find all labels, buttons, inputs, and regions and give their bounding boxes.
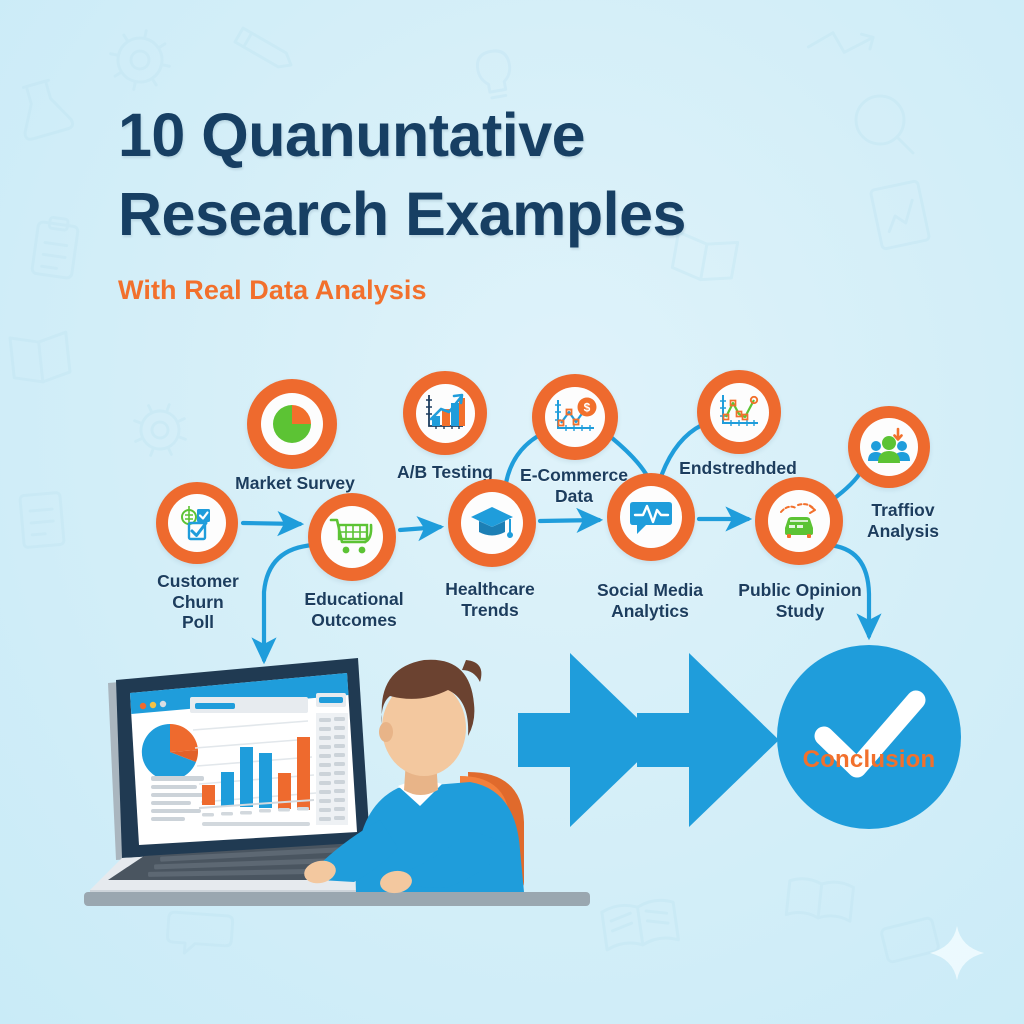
connector-education-to-healthcare [400, 527, 440, 530]
flow-node-market-survey[interactable] [247, 379, 337, 469]
illustration-scene [0, 600, 1024, 1024]
speech-pulse-icon [628, 496, 674, 538]
flow-node-endstredhded[interactable] [697, 370, 781, 454]
lightbulb-icon [475, 49, 515, 100]
page-title-line-1: 10 Quanuntative [118, 96, 878, 175]
flask-icon [12, 77, 73, 140]
flow-label-endstredhded: Endstredhded [679, 458, 797, 479]
flow-label-traffiov-analysis: Traffiov Analysis [843, 500, 964, 541]
pie-chart-icon [269, 401, 315, 447]
chart-paper-icon [870, 181, 929, 250]
svg-text:$: $ [584, 401, 591, 415]
connector-churn-to-education [243, 523, 300, 524]
flow-node-customer-churn-poll[interactable] [156, 482, 238, 564]
car-traffic-icon [776, 500, 822, 542]
arrow-decoration-icon [808, 22, 873, 63]
gear-icon [125, 395, 194, 464]
flow-node-ab-testing[interactable] [403, 371, 487, 455]
clipboard-icon [32, 216, 80, 279]
desk-surface [84, 892, 590, 906]
page-title-line-2: Research Examples [118, 175, 878, 254]
flow-label-market-survey: Market Survey [235, 473, 355, 494]
bar-chart-growth-icon [423, 392, 467, 434]
conclusion-badge[interactable] [777, 645, 961, 829]
dashboard-side-list [316, 713, 348, 825]
page-subtitle: With Real Data Analysis [118, 275, 878, 306]
shopping-cart-icon [329, 515, 375, 559]
flow-node-educational-outcomes[interactable] [308, 493, 396, 581]
line-chart-dollar-icon: $ [552, 396, 598, 438]
connector-healthcare-to-social [540, 520, 599, 521]
document-icon [20, 492, 64, 547]
flow-node-social-media-analytics[interactable] [607, 473, 695, 561]
conclusion-label: Conclusion [803, 746, 936, 774]
pencil-icon [235, 28, 295, 72]
gear-icon [104, 24, 175, 95]
survey-checklist-icon [177, 503, 217, 543]
flow-node-traffiov-analysis[interactable] [848, 406, 930, 488]
book-icon [10, 332, 71, 385]
flow-node-ecommerce-data[interactable]: $ [532, 374, 618, 460]
dashboard-pie-chart [142, 724, 198, 780]
double-chevron-arrow [518, 653, 779, 827]
heading-block: 10 Quanuntative Research Examples With R… [118, 96, 878, 306]
flow-node-public-opinion-study[interactable] [755, 477, 843, 565]
zigzag-line-chart-icon [717, 392, 761, 432]
people-group-icon [867, 427, 911, 467]
infographic-canvas: 10 Quanuntative Research Examples With R… [0, 0, 1024, 1024]
graduation-cap-icon [469, 503, 515, 543]
